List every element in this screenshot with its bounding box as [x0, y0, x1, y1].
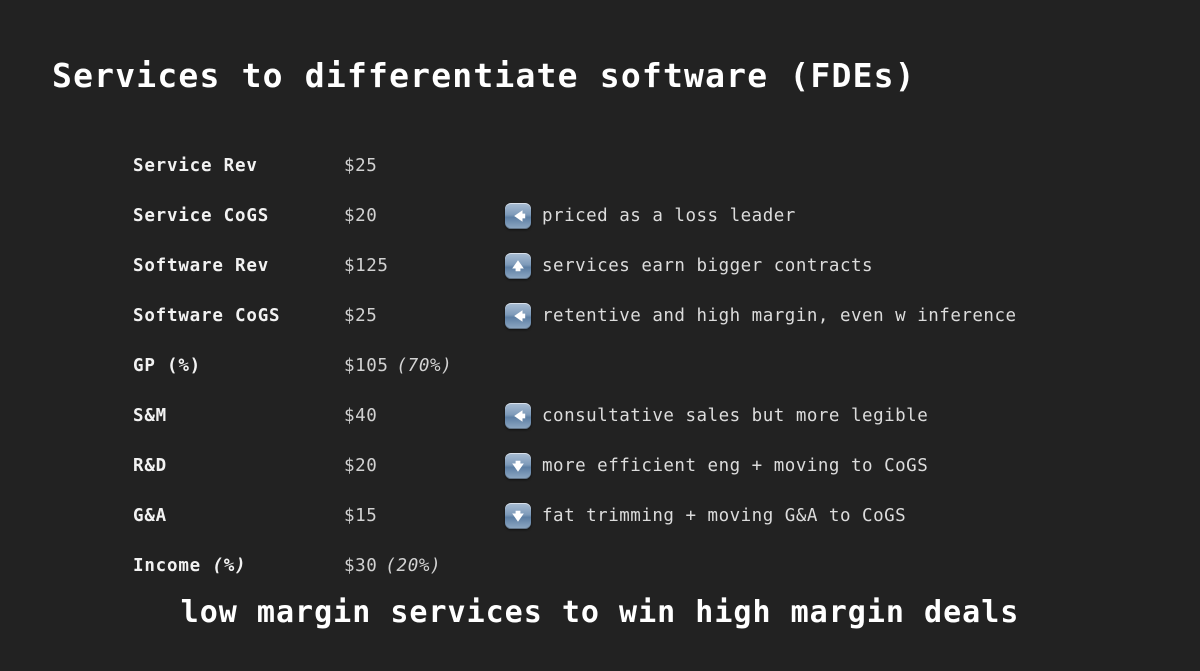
slide-root: Services to differentiate software (FDEs… [0, 0, 1200, 671]
row-value: $15 [344, 491, 377, 541]
row-annotation-text: fat trimming + moving G&A to CoGS [531, 491, 906, 541]
row-label-text: S&M [133, 406, 167, 426]
row-annotation: consultative sales but more legible [505, 391, 928, 441]
table-row: Service CoGS$20priced as a loss leader [0, 191, 1200, 241]
table-row: Service Rev$25 [0, 141, 1200, 191]
row-label: Service Rev [133, 141, 258, 191]
row-annotation-text: retentive and high margin, even w infere… [531, 291, 1017, 341]
arrow-left-icon [505, 203, 531, 229]
row-value-amount: $25 [344, 306, 377, 326]
row-label: GP (%) [133, 341, 201, 391]
arrow-up-icon [505, 253, 531, 279]
row-label-text: Software CoGS [133, 306, 280, 326]
table-row: Income (%)$30(20%) [0, 541, 1200, 591]
table-row: Software Rev$125services earn bigger con… [0, 241, 1200, 291]
row-annotation: priced as a loss leader [505, 191, 796, 241]
row-label: Software CoGS [133, 291, 280, 341]
row-annotation-text: consultative sales but more legible [531, 391, 928, 441]
row-label-text: R&D [133, 456, 167, 476]
row-label-text: Service Rev [133, 156, 258, 176]
row-annotation-text: priced as a loss leader [531, 191, 796, 241]
table-row: R&D$20more efficient eng + moving to CoG… [0, 441, 1200, 491]
row-value-amount: $15 [344, 506, 377, 526]
row-annotation-text: services earn bigger contracts [531, 241, 873, 291]
arrow-left-icon [505, 403, 531, 429]
row-label: Income (%) [133, 541, 246, 591]
row-annotation: fat trimming + moving G&A to CoGS [505, 491, 906, 541]
row-value: $125 [344, 241, 389, 291]
table-row: Software CoGS$25retentive and high margi… [0, 291, 1200, 341]
row-value-percent: (70%) [389, 356, 453, 376]
row-value-amount: $125 [344, 256, 389, 276]
slide-footer-takeaway: low margin services to win high margin d… [0, 595, 1200, 630]
row-value-percent: (20%) [377, 556, 441, 576]
row-value: $25 [344, 141, 377, 191]
row-label-text: GP (%) [133, 356, 201, 376]
table-row: GP (%)$105(70%) [0, 341, 1200, 391]
row-value-amount: $20 [344, 456, 377, 476]
row-annotation: retentive and high margin, even w infere… [505, 291, 1017, 341]
row-value: $20 [344, 191, 377, 241]
row-value: $40 [344, 391, 377, 441]
row-value-amount: $20 [344, 206, 377, 226]
row-label: R&D [133, 441, 167, 491]
row-label: Service CoGS [133, 191, 269, 241]
row-label-text: Software Rev [133, 256, 269, 276]
row-annotation-text: more efficient eng + moving to CoGS [531, 441, 928, 491]
table-row: G&A$15fat trimming + moving G&A to CoGS [0, 491, 1200, 541]
row-value-amount: $40 [344, 406, 377, 426]
financials-table: Service Rev$25Service CoGS$20priced as a… [0, 141, 1200, 591]
row-annotation: services earn bigger contracts [505, 241, 873, 291]
table-row: S&M$40consultative sales but more legibl… [0, 391, 1200, 441]
row-label: G&A [133, 491, 167, 541]
row-label-text: Income [133, 556, 212, 576]
arrow-left-icon [505, 303, 531, 329]
row-label: Software Rev [133, 241, 269, 291]
row-label-percent-tag: (%) [212, 556, 246, 576]
arrow-down-icon [505, 453, 531, 479]
row-value-amount: $25 [344, 156, 377, 176]
row-label: S&M [133, 391, 167, 441]
row-label-text: G&A [133, 506, 167, 526]
row-value-amount: $30 [344, 556, 377, 576]
row-label-text: Service CoGS [133, 206, 269, 226]
row-value: $20 [344, 441, 377, 491]
page-title: Services to differentiate software (FDEs… [52, 56, 916, 95]
row-annotation: more efficient eng + moving to CoGS [505, 441, 928, 491]
row-value: $105(70%) [344, 341, 452, 391]
arrow-down-icon [505, 503, 531, 529]
row-value: $25 [344, 291, 377, 341]
row-value: $30(20%) [344, 541, 441, 591]
row-value-amount: $105 [344, 356, 389, 376]
